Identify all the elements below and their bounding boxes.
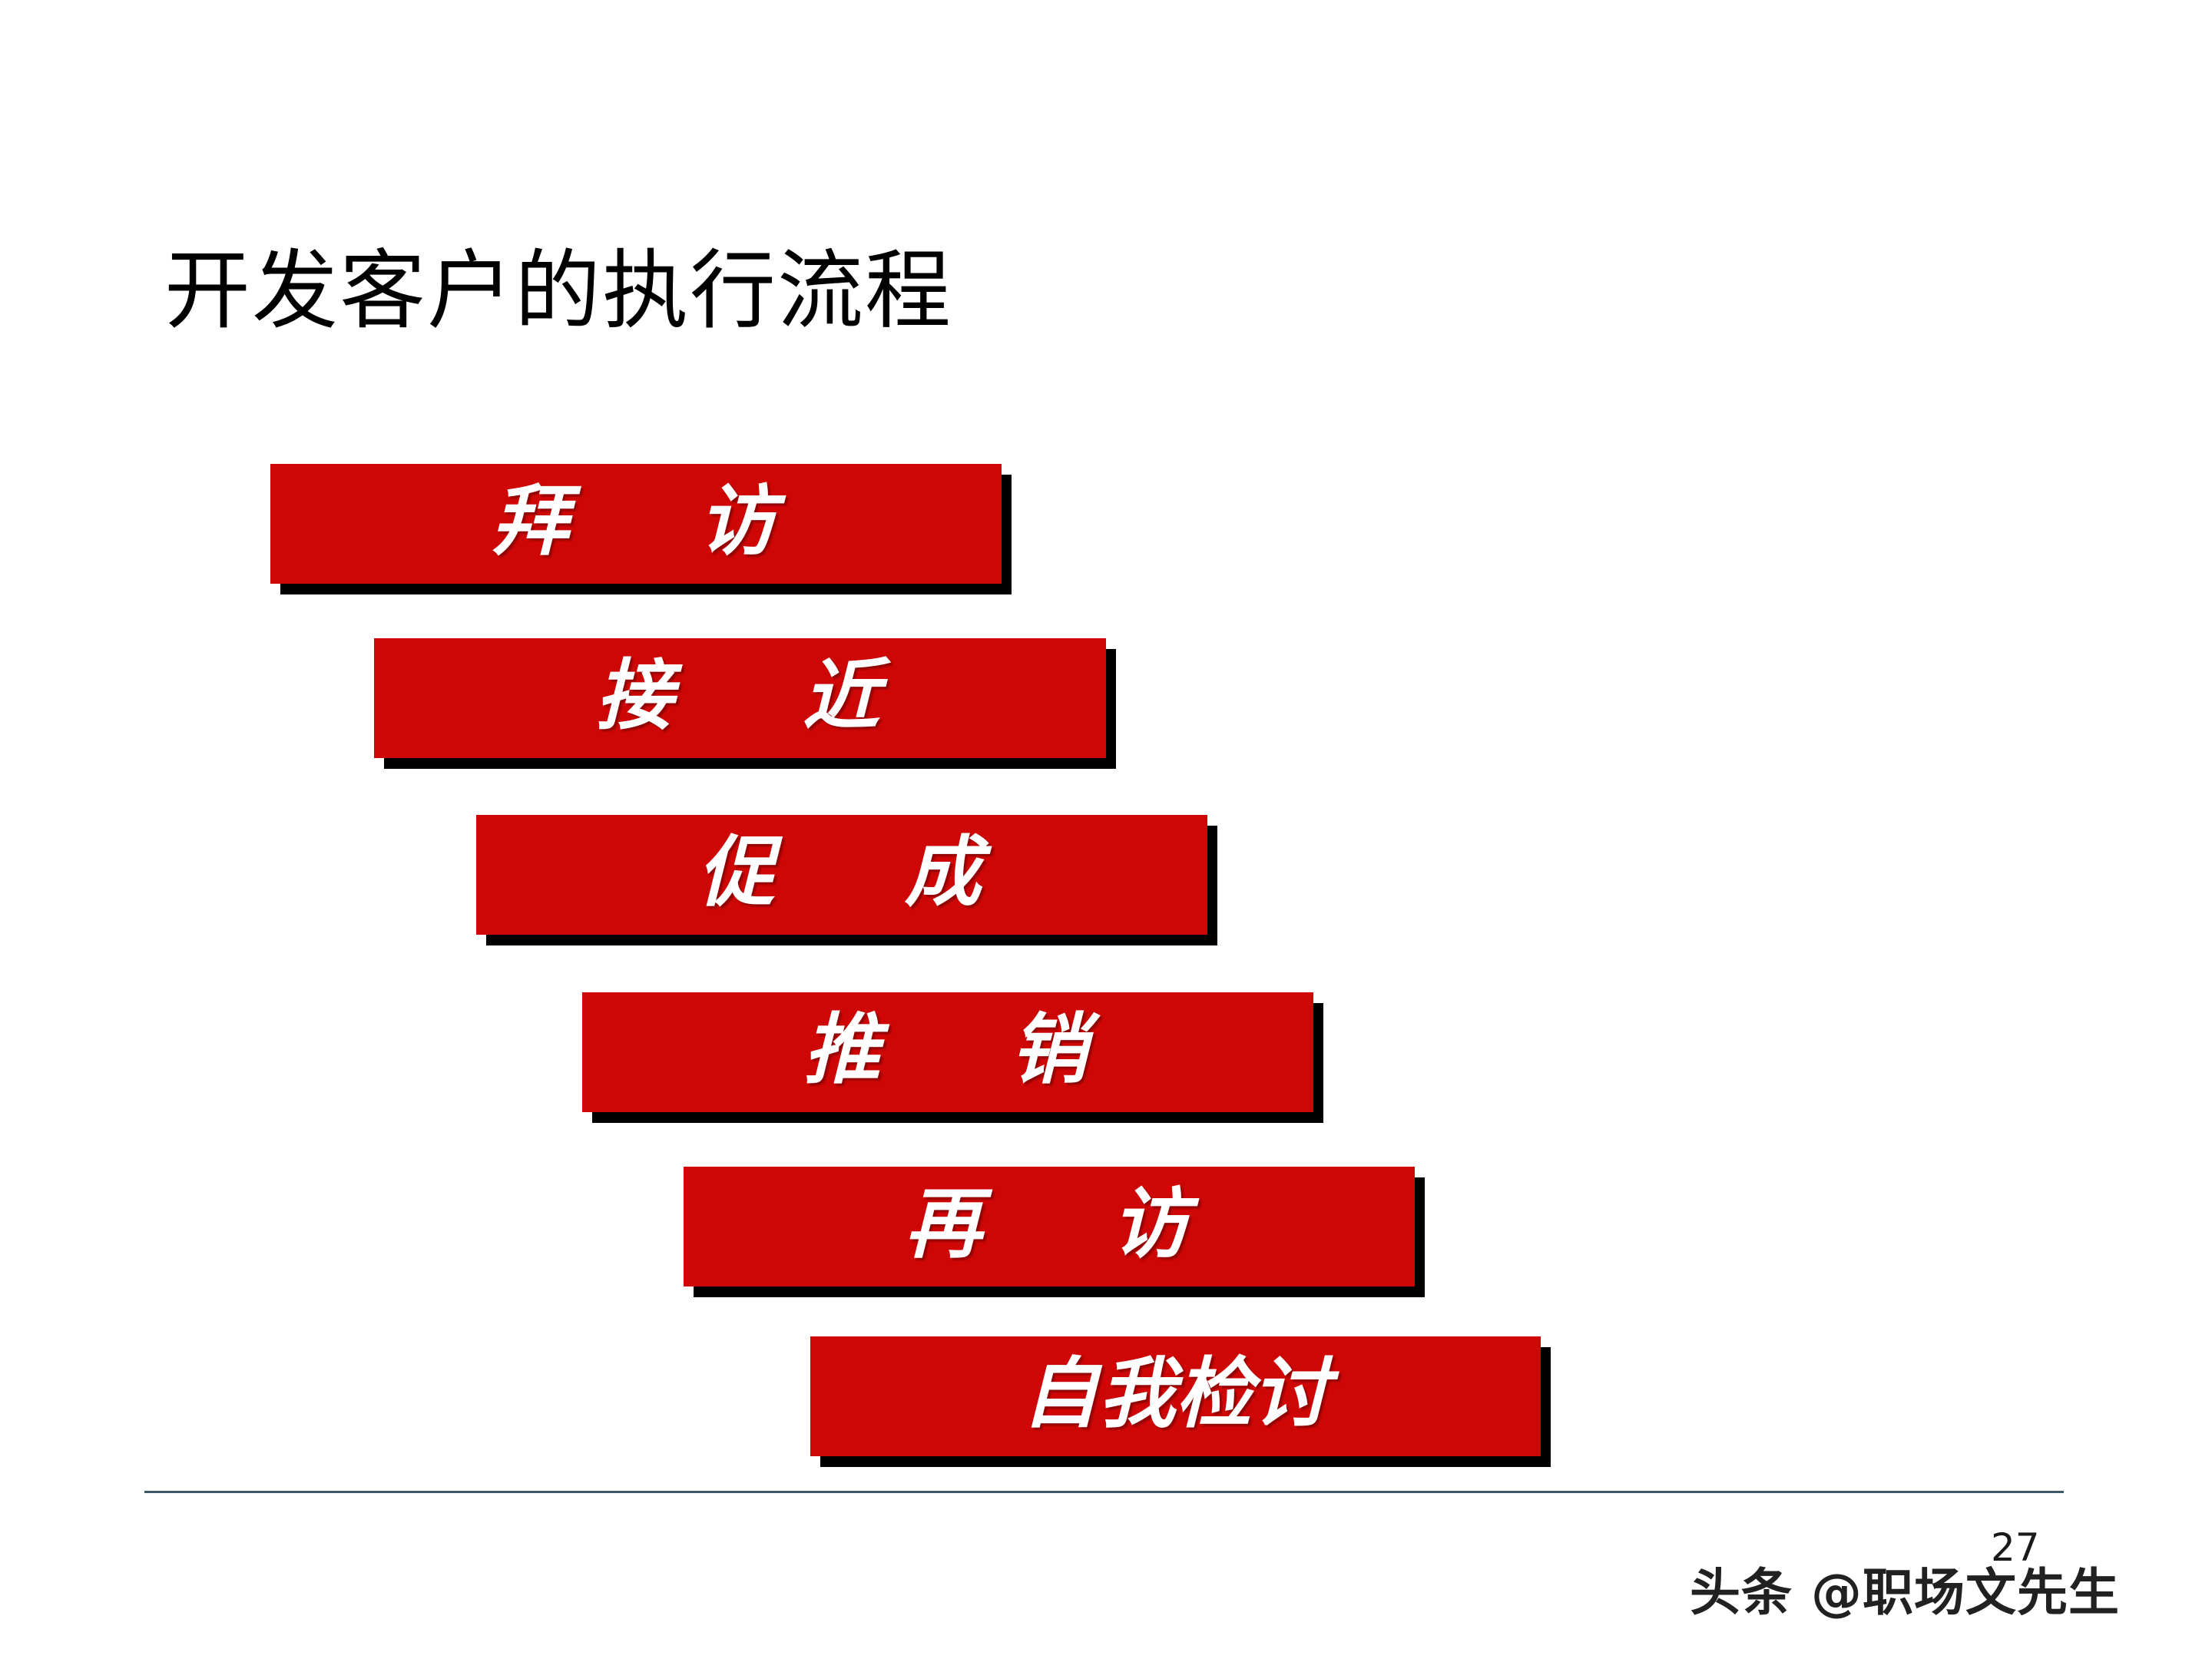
flow-step-bar: 接 近 [374, 638, 1106, 758]
watermark: 头条 @职场文先生 [1690, 1551, 2120, 1625]
flow-step-bar: 自我检讨 [810, 1336, 1541, 1456]
process-flow-diagram: 拜 访 接 近 促 成 推 销 再 访 [0, 0, 2212, 1659]
flow-step-bar: 促 成 [476, 815, 1207, 935]
flow-step-label: 再 访 [905, 1186, 1193, 1263]
flow-step[interactable]: 拜 访 [270, 464, 1002, 584]
flow-step-label: 接 近 [596, 657, 884, 734]
slide-canvas: 开发客户的执行流程 拜 访 接 近 促 成 推 销 [0, 0, 2212, 1659]
flow-step-bar: 拜 访 [270, 464, 1002, 584]
flow-step[interactable]: 自我检讨 [810, 1336, 1541, 1456]
flow-step[interactable]: 再 访 [684, 1167, 1415, 1286]
flow-step-label: 促 成 [697, 834, 985, 911]
flow-step-bar: 推 销 [582, 992, 1313, 1112]
footer-divider [144, 1491, 2064, 1493]
flow-step-bar: 再 访 [684, 1167, 1415, 1286]
flow-step-label: 拜 访 [492, 483, 780, 560]
flow-step-label: 推 销 [803, 1012, 1091, 1088]
flow-step-label: 自我检讨 [1022, 1356, 1330, 1432]
flow-step[interactable]: 接 近 [374, 638, 1106, 758]
flow-step[interactable]: 促 成 [476, 815, 1207, 935]
flow-step[interactable]: 推 销 [582, 992, 1313, 1112]
